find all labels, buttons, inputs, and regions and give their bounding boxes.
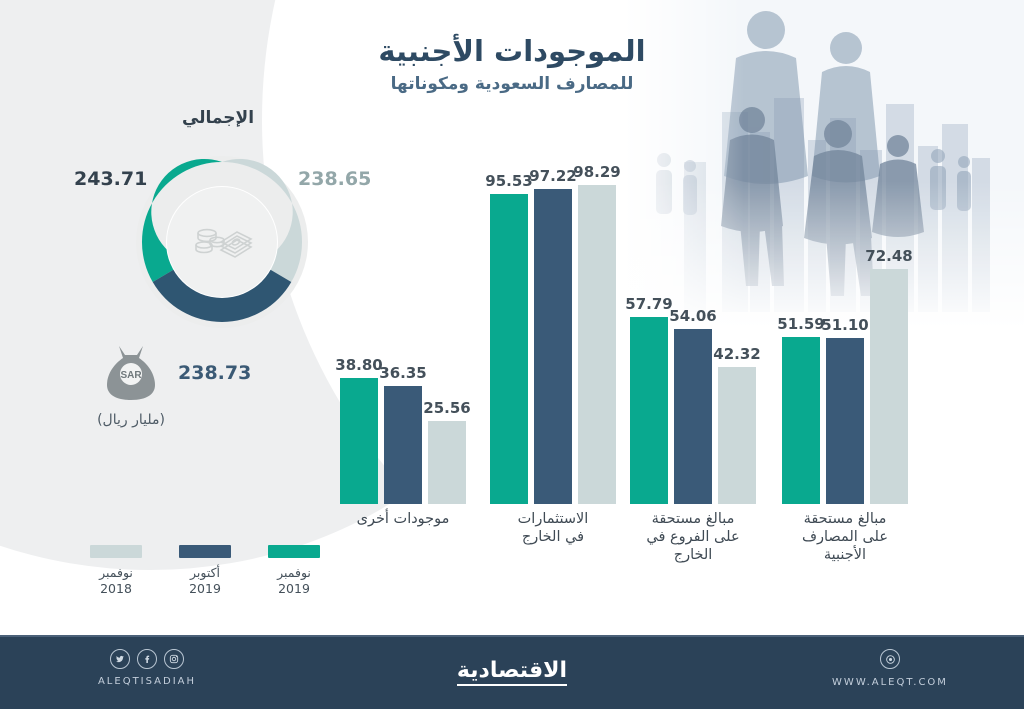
- badge-icon: [880, 649, 900, 669]
- legend-label: نوفمبر2018: [80, 565, 152, 598]
- footer-divider: [0, 635, 1024, 637]
- legend-item: نوفمبر2019: [258, 545, 330, 598]
- bar-rect: [534, 189, 572, 504]
- bar-group: 57.7954.0642.32مبالغ مستحقةعلى الفروع في…: [630, 170, 756, 504]
- bar-groups: 38.8036.3525.56موجودات أخرى95.5397.2298.…: [330, 170, 1010, 504]
- bar: 51.10: [826, 170, 864, 504]
- bar-rect: [428, 421, 466, 504]
- bar-value-label: 57.79: [625, 295, 672, 313]
- footer-website-block: WWW.ALEQT.COM: [800, 649, 980, 688]
- bar-rect: [782, 337, 820, 504]
- chart-legend: نوفمبر2019أكتوبر2019نوفمبر2018: [80, 545, 330, 615]
- legend-label: أكتوبر2019: [169, 565, 241, 598]
- bar: 38.80: [340, 170, 378, 504]
- bar-group-label: مبالغ مستحقةعلى المصارفالأجنبية: [770, 510, 920, 564]
- bar-rect: [870, 269, 908, 504]
- legend-swatch: [179, 545, 231, 558]
- header: الموجودات الأجنبية للمصارف السعودية ومكو…: [0, 34, 1024, 95]
- bar-chart: 38.8036.3525.56موجودات أخرى95.5397.2298.…: [330, 170, 1010, 590]
- bar: 97.22: [534, 170, 572, 504]
- bar: 36.35: [384, 170, 422, 504]
- bar-value-label: 72.48: [865, 247, 912, 265]
- donut-value-nov2019: 243.71: [74, 168, 147, 190]
- bar-value-label: 38.80: [335, 356, 382, 374]
- bar-rect: [578, 185, 616, 504]
- bar-group: 51.5951.1072.48مبالغ مستحقةعلى المصارفال…: [782, 170, 908, 504]
- money-bag-icon: SAR: [103, 342, 159, 404]
- donut-chart: [136, 156, 308, 328]
- bar-group-label: مبالغ مستحقةعلى الفروع فيالخارج: [618, 510, 768, 564]
- money-icon: [191, 216, 253, 268]
- bar: 54.06: [674, 170, 712, 504]
- bar-value-label: 42.32: [713, 345, 760, 363]
- bar: 25.56: [428, 170, 466, 504]
- footer: ALEQTISADIAH الاقتصادية WWW.ALEQT.COM: [0, 635, 1024, 709]
- bar-group-label: موجودات أخرى: [328, 510, 478, 528]
- bar-value-label: 25.56: [423, 399, 470, 417]
- page-title: الموجودات الأجنبية: [0, 34, 1024, 68]
- bar-rect: [384, 386, 422, 504]
- legend-swatch: [90, 545, 142, 558]
- bar-group-label: الاستثماراتفي الخارج: [478, 510, 628, 546]
- bar-value-label: 97.22: [529, 167, 576, 185]
- legend-item: أكتوبر2019: [169, 545, 241, 598]
- bag-currency-label: SAR: [120, 370, 142, 381]
- bar: 95.53: [490, 170, 528, 504]
- infographic-root: الموجودات الأجنبية للمصارف السعودية ومكو…: [0, 0, 1024, 709]
- bar-value-label: 95.53: [485, 172, 532, 190]
- bar-rect: [826, 338, 864, 504]
- bar: 42.32: [718, 170, 756, 504]
- donut-heading: الإجمالي: [18, 108, 418, 128]
- bar-rect: [674, 329, 712, 504]
- bar-value-label: 98.29: [573, 163, 620, 181]
- legend-swatch: [268, 545, 320, 558]
- bar: 51.59: [782, 170, 820, 504]
- bar-rect: [718, 367, 756, 504]
- bar-group: 95.5397.2298.29الاستثماراتفي الخارج: [490, 170, 616, 504]
- bar: 98.29: [578, 170, 616, 504]
- donut-value-oct2019: 238.73: [178, 362, 251, 384]
- page-subtitle: للمصارف السعودية ومكوناتها: [0, 74, 1024, 94]
- bar-value-label: 36.35: [379, 364, 426, 382]
- bar-rect: [490, 194, 528, 504]
- legend-label: نوفمبر2019: [258, 565, 330, 598]
- bar: 57.79: [630, 170, 668, 504]
- currency-unit-block: SAR (مليار ريال): [76, 342, 186, 428]
- bar-value-label: 54.06: [669, 307, 716, 325]
- aleqtisadiah-logo[interactable]: الاقتصادية: [457, 659, 567, 686]
- bar: 72.48: [870, 170, 908, 504]
- legend-item: نوفمبر2018: [80, 545, 152, 598]
- unit-caption: (مليار ريال): [76, 412, 186, 428]
- bar-rect: [630, 317, 668, 504]
- bar-value-label: 51.10: [821, 316, 868, 334]
- footer-website-caption: WWW.ALEQT.COM: [800, 677, 980, 688]
- bar-value-label: 51.59: [777, 315, 824, 333]
- bar-rect: [340, 378, 378, 504]
- bar-group: 38.8036.3525.56موجودات أخرى: [340, 170, 466, 504]
